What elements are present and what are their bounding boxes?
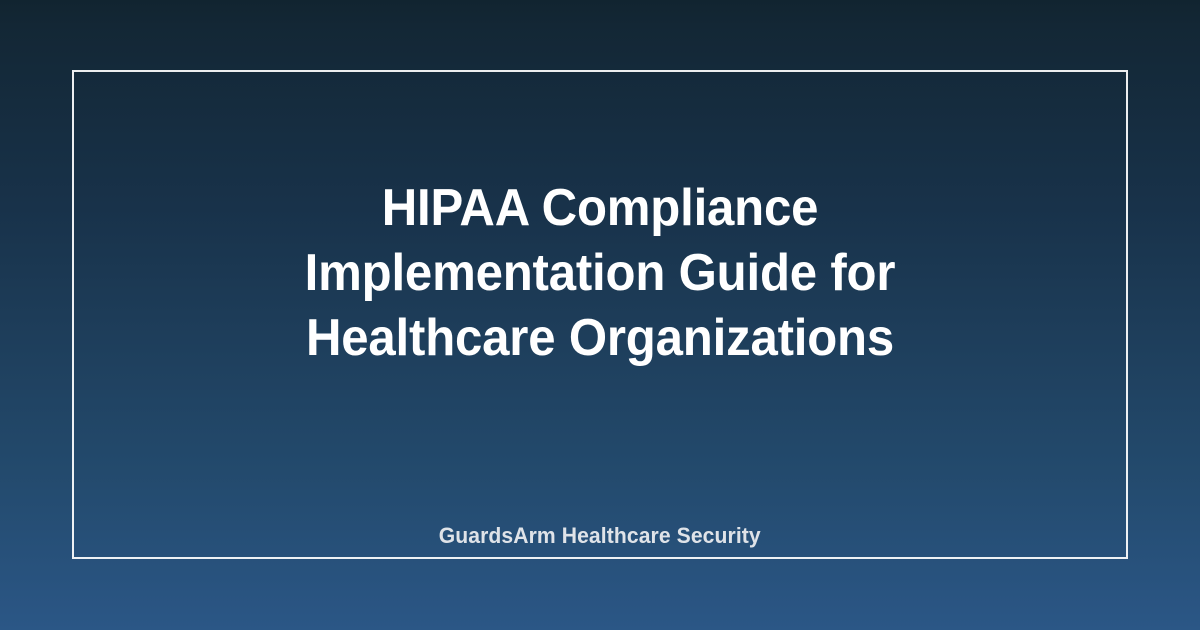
- title-line-3: Healthcare Organizations: [139, 306, 1061, 371]
- page-title: HIPAA Compliance Implementation Guide fo…: [72, 176, 1128, 371]
- card-content: HIPAA Compliance Implementation Guide fo…: [72, 70, 1128, 559]
- card-subtitle: GuardsArm Healthcare Security: [72, 521, 1128, 551]
- title-line-2: Implementation Guide for: [139, 241, 1061, 306]
- brand-name: GuardsArm Healthcare Security: [439, 521, 761, 551]
- social-card: HIPAA Compliance Implementation Guide fo…: [0, 0, 1200, 630]
- title-line-1: HIPAA Compliance: [139, 176, 1061, 241]
